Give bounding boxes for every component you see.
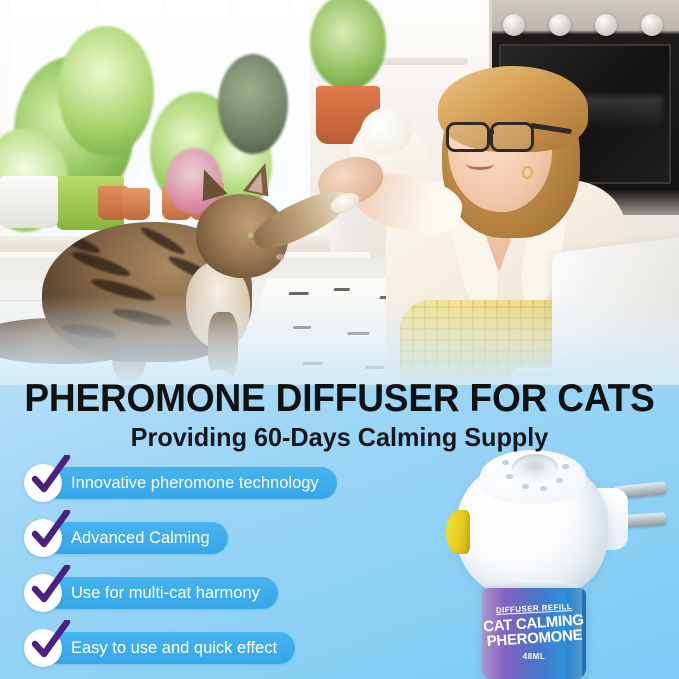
product-image: DIFFUSER REFILL CAT CALMING PHEROMONE 48… [436, 448, 679, 679]
product-advertisement: PHEROMONE DIFFUSER FOR CATS Providing 60… [0, 0, 679, 679]
list-item: Easy to use and quick effect [24, 629, 424, 667]
page-subtitle: Providing 60-Days Calming Supply [10, 422, 669, 452]
vent-hole [502, 460, 509, 465]
feature-label: Innovative pheromone technology [43, 467, 337, 499]
rubber-plant [218, 54, 288, 154]
vent-hole [556, 478, 563, 483]
cat-nose [276, 254, 284, 260]
yellow-indicator-tab [446, 510, 470, 554]
eyeglasses [446, 122, 490, 152]
check-icon [26, 510, 72, 556]
feature-label: Easy to use and quick effect [43, 632, 295, 664]
houseplant-foliage [58, 26, 154, 156]
bottle-highlight [482, 588, 504, 679]
lifestyle-photo [0, 0, 679, 385]
diffuser-vent-opening [512, 454, 558, 482]
eyeglasses [490, 122, 534, 152]
vent-hole [522, 484, 529, 489]
refill-bottle: DIFFUSER REFILL CAT CALMING PHEROMONE 48… [482, 588, 586, 679]
cat-ear [194, 165, 227, 201]
woman-smile [466, 158, 494, 170]
check-icon [26, 455, 72, 501]
check-icon [26, 565, 72, 611]
photo-gradient-fade [0, 295, 679, 385]
page-title: PHEROMONE DIFFUSER FOR CATS [17, 378, 662, 420]
eyeglasses-bridge [488, 130, 494, 134]
earring [522, 166, 533, 179]
check-icon [26, 620, 72, 666]
feature-label: Use for multi-cat harmony [43, 577, 278, 609]
list-item: Advanced Calming [24, 519, 424, 557]
vent-hole [506, 474, 513, 479]
vent-hole [562, 464, 569, 469]
feature-list: Innovative pheromone technology Advanced… [24, 464, 424, 679]
bottle-highlight [568, 588, 582, 679]
list-item: Use for multi-cat harmony [24, 574, 424, 612]
list-item: Innovative pheromone technology [24, 464, 424, 502]
vent-hole [540, 486, 547, 491]
